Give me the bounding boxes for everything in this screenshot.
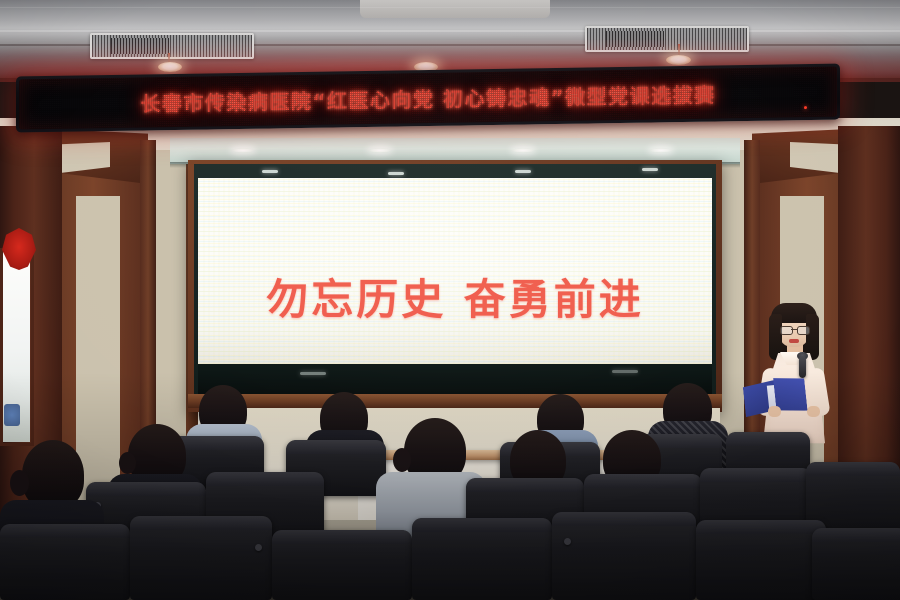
auditorium-chair bbox=[412, 518, 552, 600]
glasses-right-lens-icon bbox=[797, 326, 810, 335]
soffit-light-1-icon bbox=[232, 148, 254, 153]
led-status-dot-icon bbox=[804, 106, 807, 109]
ceiling-center-beam bbox=[360, 0, 550, 18]
photo-scene: 勿忘历史 奋勇前进 长春市传染病医院“红医心向党 初心铸忠魂”微型党课选拔赛 bbox=[0, 0, 900, 600]
doorway-frame bbox=[0, 248, 34, 446]
auditorium-chair bbox=[552, 512, 696, 600]
ceiling-downlight-3-icon bbox=[666, 55, 691, 65]
screen-reflection-1 bbox=[262, 170, 278, 173]
speaker-lips bbox=[789, 339, 799, 343]
slide-headline: 勿忘历史 奋勇前进 bbox=[198, 266, 712, 327]
soffit-light-2-icon bbox=[369, 148, 391, 153]
screen-band-reflection-2 bbox=[612, 370, 638, 373]
glasses-bridge-icon bbox=[791, 329, 797, 330]
ceiling-seam-upper bbox=[0, 7, 900, 8]
ceiling-seam bbox=[0, 30, 900, 32]
speaker-hand-left bbox=[768, 406, 781, 417]
screen-reflection-4 bbox=[642, 168, 658, 171]
screen-bottom-trim bbox=[188, 394, 722, 408]
screen-reflection-3 bbox=[515, 170, 531, 173]
screen-band-reflection-1 bbox=[300, 372, 326, 375]
soffit-light-4-icon bbox=[650, 148, 672, 153]
speaker-hand-right bbox=[807, 406, 820, 417]
auditorium-chair bbox=[0, 524, 130, 600]
screen-reflection-2 bbox=[388, 172, 404, 175]
auditorium-chair bbox=[696, 520, 826, 600]
attendee-hair-bun bbox=[119, 452, 136, 474]
auditorium-chair bbox=[812, 528, 900, 600]
auditorium-chair bbox=[272, 530, 412, 600]
soffit-light-3-icon bbox=[512, 148, 534, 153]
attendee-hair-bun bbox=[393, 448, 411, 472]
screen-lower-dark-band bbox=[198, 364, 712, 394]
led-pixel-grid bbox=[19, 67, 837, 130]
attendee-hair-bun bbox=[10, 470, 29, 496]
glasses-left-lens-icon bbox=[780, 326, 793, 335]
projection-screen-surface: 勿忘历史 奋勇前进 bbox=[198, 178, 712, 364]
ceiling-downlight-1-icon bbox=[158, 62, 182, 72]
auditorium-chair bbox=[130, 516, 272, 600]
